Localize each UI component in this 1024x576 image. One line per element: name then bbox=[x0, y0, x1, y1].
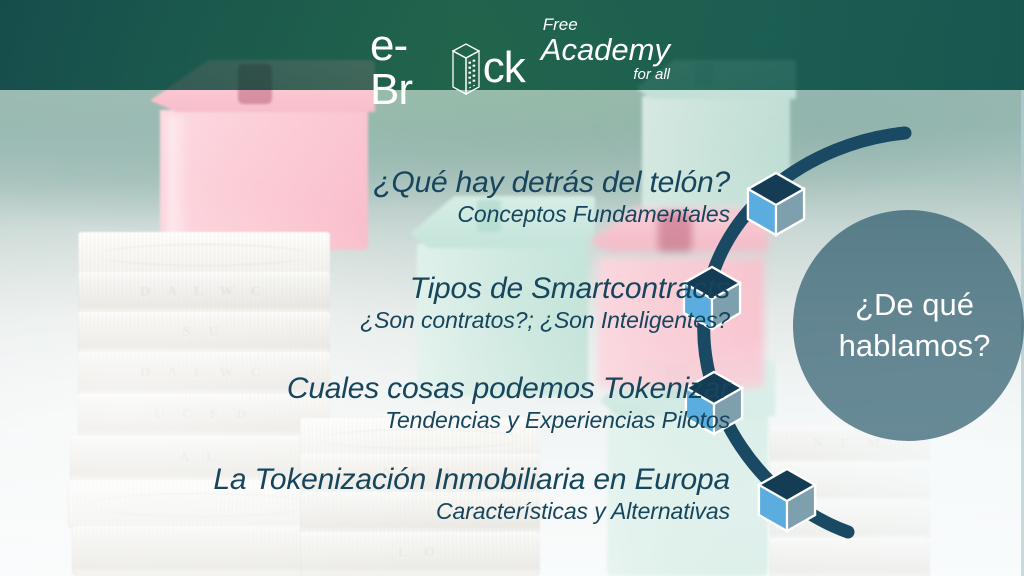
circle-badge-text: ¿De qué hablamos? bbox=[820, 285, 1010, 367]
agenda-item-subtitle: Características y Alternativas bbox=[213, 498, 730, 525]
circle-badge-line-2: hablamos? bbox=[820, 326, 1010, 367]
agenda-item-subtitle: Tendencias y Experiencias Pilotos bbox=[287, 407, 730, 434]
agenda-item-4: La Tokenización Inmobiliaria en Europa C… bbox=[213, 463, 730, 525]
agenda-item-3: Cuales cosas podemos Tokenizar Tendencia… bbox=[287, 372, 730, 434]
agenda-item-title: La Tokenización Inmobiliaria en Europa bbox=[213, 463, 730, 497]
agenda-item-title: Cuales cosas podemos Tokenizar bbox=[287, 372, 730, 406]
agenda-item-1: ¿Qué hay detrás del telón? Conceptos Fun… bbox=[373, 166, 730, 228]
agenda-item-title: ¿Qué hay detrás del telón? bbox=[373, 166, 730, 200]
agenda-item-2: Tipos de Smartcontracts ¿Son contratos?;… bbox=[360, 272, 730, 334]
topic-circle-badge: ¿De qué hablamos? bbox=[793, 210, 1024, 441]
agenda-list: ¿Qué hay detrás del telón? Conceptos Fun… bbox=[0, 0, 745, 576]
agenda-item-title: Tipos de Smartcontracts bbox=[360, 272, 730, 306]
agenda-item-subtitle: Conceptos Fundamentales bbox=[373, 201, 730, 228]
circle-badge-line-1: ¿De qué bbox=[820, 285, 1010, 326]
agenda-item-subtitle: ¿Son contratos?; ¿Son Inteligentes? bbox=[360, 307, 730, 334]
slide-canvas: D A L W C S U D A L W C U C E D A L N E … bbox=[0, 0, 1024, 576]
